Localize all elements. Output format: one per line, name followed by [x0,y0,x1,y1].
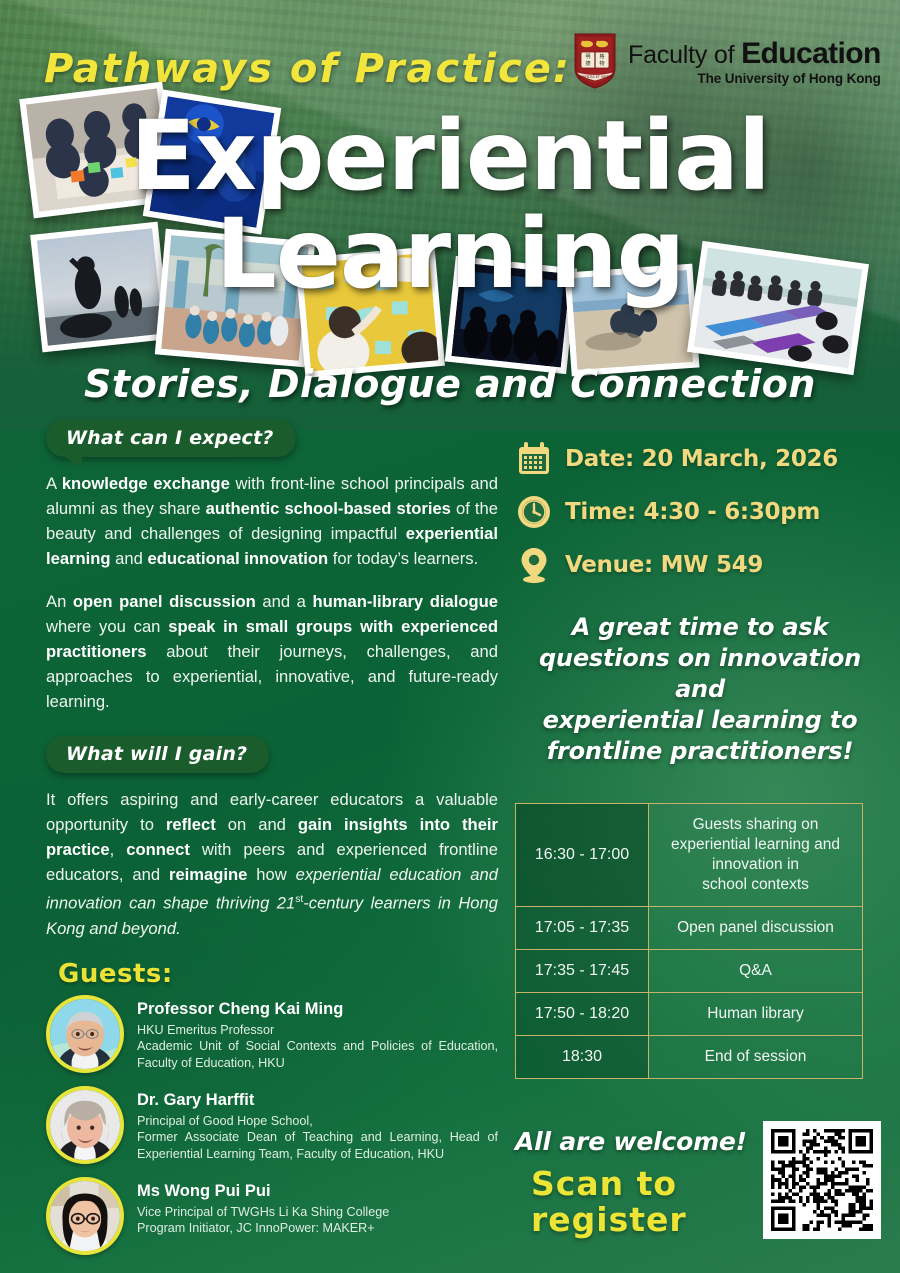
photo-image [302,253,439,372]
event-date-row: Date: 20 March, 2026 [515,438,885,480]
guest-role: Vice Principal of TWGHs Li Ka Shing Coll… [137,1204,389,1237]
schedule-time: 17:35 - 17:45 [516,950,649,993]
photo-image [451,263,570,368]
clock-icon [515,492,553,532]
collage-photo-stickynotes [295,246,445,378]
event-time-text: Time: 4:30 - 6:30pm [565,499,820,525]
qr-image [771,1129,873,1231]
table-row: 17:35 - 17:45 Q&A [516,950,863,993]
schedule-body: 16:30 - 17:00 Guests sharing onexperient… [516,804,863,1079]
welcome-message: All are welcome! [515,1127,747,1156]
schedule-item: Q&A [649,950,863,993]
guests-heading: Guests: [58,959,498,989]
collage-photo-courtyard [155,229,315,368]
avatar-cheng-kai-ming [46,995,124,1073]
schedule-time: 18:30 [516,1036,649,1079]
collage-photo-aquarium [445,256,577,374]
right-content-column: Date: 20 March, 2026 Time: 4:30 - 6:30pm [515,438,885,1239]
faculty-wordmark: Faculty of Education The University of H… [628,37,881,86]
guest-role: HKU Emeritus ProfessorAcademic Unit of S… [137,1022,498,1072]
gain-paragraph-1: It offers aspiring and early-career educ… [46,787,498,941]
schedule-time: 17:05 - 17:35 [516,907,649,950]
callout-line: experiential learning to [543,706,858,734]
photo-image [694,248,862,369]
guest-item: Dr. Gary Harffit Principal of Good Hope … [46,1086,498,1164]
event-venue-text: Venue: MW 549 [565,552,763,578]
avatar-image [50,1090,120,1160]
guest-item: Professor Cheng Kai Ming HKU Emeritus Pr… [46,995,498,1073]
schedule-table: 16:30 - 17:00 Guests sharing onexperient… [515,803,863,1079]
avatar-image [50,1181,120,1251]
registration-qr-code[interactable] [763,1121,881,1239]
collage-photo-sunset [30,222,170,353]
photo-image [571,270,693,370]
calendar-icon [515,439,553,479]
schedule-time: 17:50 - 18:20 [516,993,649,1036]
event-venue-row: Venue: MW 549 [515,544,885,586]
guest-item: Ms Wong Pui Pui Vice Principal of TWGHs … [46,1177,498,1255]
callout-line: frontline practitioners! [547,737,853,765]
faculty-prefix: Faculty of [628,41,741,69]
location-pin-icon [515,545,553,585]
what-can-i-expect-label: What can I expect? [46,420,296,457]
what-will-i-gain-label: What will I gain? [46,736,269,773]
poster-subtitle: Stories, Dialogue and Connection [0,362,900,406]
schedule-item: Guests sharing onexperiential learning a… [649,804,863,907]
event-date-text: Date: 20 March, 2026 [565,446,838,472]
scan-to-register-label: Scan to register [531,1166,747,1238]
photo-image [161,235,308,361]
poster-canvas: 明德 格物 SAPIENTIA ET VIRTUS Faculty of Edu… [0,0,900,1273]
callout-line: A great time to ask [572,613,829,641]
faculty-name: Education [741,37,881,70]
guest-name: Ms Wong Pui Pui [137,1182,389,1201]
expect-paragraph-2: An open panel discussion and a human-lib… [46,589,498,714]
expect-paragraph-1: A knowledge exchange with front-line sch… [46,471,498,571]
left-content-column: What can I expect? A knowledge exchange … [46,420,498,1268]
avatar-wong-pui-pui [46,1177,124,1255]
photo-collage [0,80,900,400]
table-row: 18:30 End of session [516,1036,863,1079]
callout-line: questions on innovation and [539,644,861,703]
schedule-item: End of session [649,1036,863,1079]
callout-message: A great time to ask questions on innovat… [515,612,885,767]
guest-role: Principal of Good Hope School,Former Ass… [137,1113,498,1163]
registration-text: All are welcome! Scan to register [515,1121,747,1238]
registration-block: All are welcome! Scan to register [515,1121,885,1239]
scan-line-1: Scan to [531,1164,677,1203]
scan-line-2: register [531,1200,687,1239]
guest-name: Professor Cheng Kai Ming [137,1000,498,1019]
table-row: 17:50 - 18:20 Human library [516,993,863,1036]
schedule-item: Open panel discussion [649,907,863,950]
collage-photo-beach [565,264,700,377]
schedule-time: 16:30 - 17:00 [516,804,649,907]
photo-image [150,96,275,227]
collage-photo-classroom [687,241,869,375]
avatar-gary-harffit [46,1086,124,1164]
table-row: 16:30 - 17:00 Guests sharing onexperient… [516,804,863,907]
table-row: 17:05 - 17:35 Open panel discussion [516,907,863,950]
avatar-image [50,999,120,1069]
event-time-row: Time: 4:30 - 6:30pm [515,491,885,533]
photo-image [37,228,163,346]
collage-photo-vr [143,89,282,234]
guest-name: Dr. Gary Harffit [137,1091,498,1110]
schedule-item: Human library [649,993,863,1036]
